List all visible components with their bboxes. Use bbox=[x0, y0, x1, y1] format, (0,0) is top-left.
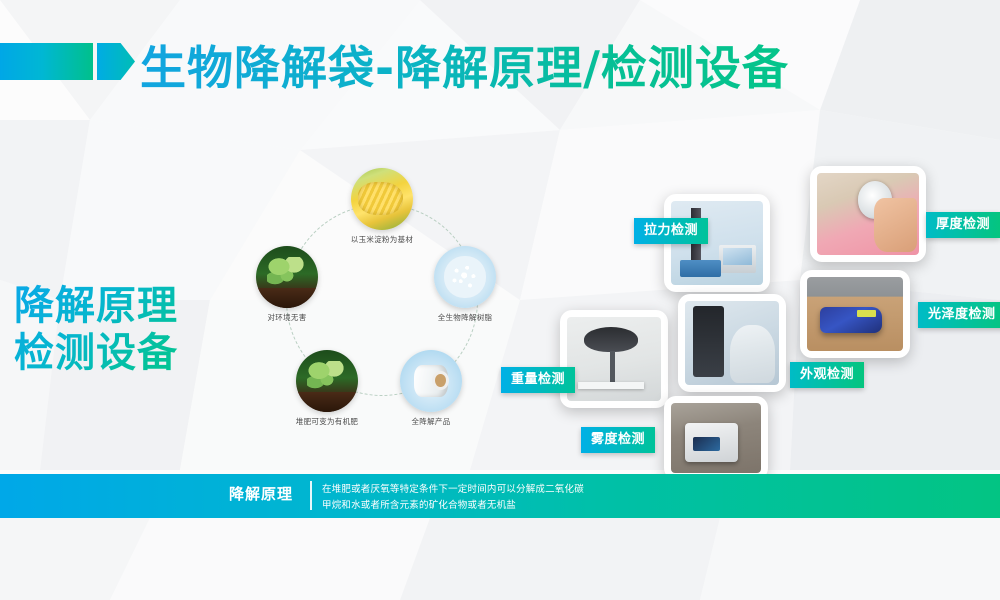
page-header: 生物降解袋-降解原理/检测设备 bbox=[0, 0, 1000, 118]
resin-pellets-photo bbox=[434, 246, 496, 308]
banner-description-line1: 在堆肥或者厌氧等特定条件下一定时间内可以分解成二氧化碳 bbox=[322, 482, 584, 498]
cycle-node-label: 全生物降解树脂 bbox=[438, 312, 493, 323]
cycle-node-label: 对环境无害 bbox=[268, 312, 307, 323]
cycle-node-label: 堆肥可变为有机肥 bbox=[296, 416, 358, 427]
photo-detail bbox=[610, 351, 615, 385]
cycle-node-label: 全降解产品 bbox=[412, 416, 451, 427]
equipment-label-gloss[interactable]: 光泽度检测 bbox=[918, 302, 1000, 328]
section-headline: 降解原理 检测设备 bbox=[14, 283, 224, 377]
bag-roll-photo bbox=[400, 350, 462, 412]
equipment-tile-thickness[interactable] bbox=[810, 166, 926, 262]
section-headline-line2: 检测设备 bbox=[14, 330, 224, 377]
equipment-label-haze[interactable]: 雾度检测 bbox=[581, 427, 655, 453]
equipment-tile-appearance[interactable] bbox=[678, 294, 786, 392]
cycle-node-label: 以玉米淀粉为基材 bbox=[351, 234, 413, 245]
sprout-photo bbox=[296, 350, 358, 412]
equipment-tile-gloss[interactable] bbox=[800, 270, 910, 358]
photo-detail bbox=[719, 245, 756, 274]
page-title: 生物降解袋-降解原理/检测设备 bbox=[140, 32, 789, 98]
cycle-node-eco[interactable]: 对环境无害 bbox=[256, 246, 318, 308]
banner-divider bbox=[310, 481, 312, 510]
equipment-label-tensile[interactable]: 拉力检测 bbox=[634, 218, 708, 244]
haze-meter-photo bbox=[671, 403, 761, 473]
sprout-photo bbox=[256, 246, 318, 308]
cycle-node-compost[interactable]: 堆肥可变为有机肥 bbox=[296, 350, 358, 412]
section-headline-line1: 降解原理 bbox=[14, 283, 224, 330]
cycle-node-corn[interactable]: 以玉米淀粉为基材 bbox=[351, 168, 413, 230]
equipment-label-weight[interactable]: 重量检测 bbox=[501, 367, 575, 393]
cycle-node-resin[interactable]: 全生物降解树脂 bbox=[434, 246, 496, 308]
slide-canvas: 生物降解袋-降解原理/检测设备 降解原理 检测设备 以玉米淀粉为基材 全生物降解… bbox=[0, 0, 1000, 600]
equipment-tile-haze[interactable] bbox=[664, 396, 768, 480]
equipment-tile-weight[interactable] bbox=[560, 310, 668, 408]
weight-tester-photo bbox=[567, 317, 661, 401]
equipment-label-appearance[interactable]: 外观检测 bbox=[790, 362, 864, 388]
corn-photo bbox=[351, 168, 413, 230]
thickness-gauge-photo bbox=[817, 173, 919, 255]
microscope-inspection-photo bbox=[685, 301, 779, 385]
gloss-meter-photo bbox=[807, 277, 903, 351]
cycle-node-product[interactable]: 全降解产品 bbox=[400, 350, 462, 412]
banner-title: 降解原理 bbox=[229, 483, 293, 504]
arrow-right-icon bbox=[97, 43, 135, 80]
header-accent-bar bbox=[0, 43, 93, 80]
equipment-label-thickness[interactable]: 厚度检测 bbox=[926, 212, 1000, 238]
banner-description: 在堆肥或者厌氧等特定条件下一定时间内可以分解成二氧化碳 甲烷和水或者所含元素的矿… bbox=[322, 482, 584, 513]
degradation-cycle-diagram: 以玉米淀粉为基材 全生物降解树脂 全降解产品 堆肥可变为有机肥 对环境无害 bbox=[248, 168, 516, 436]
banner-description-line2: 甲烷和水或者所含元素的矿化合物或者无机盐 bbox=[322, 498, 584, 514]
photo-detail bbox=[743, 351, 769, 380]
